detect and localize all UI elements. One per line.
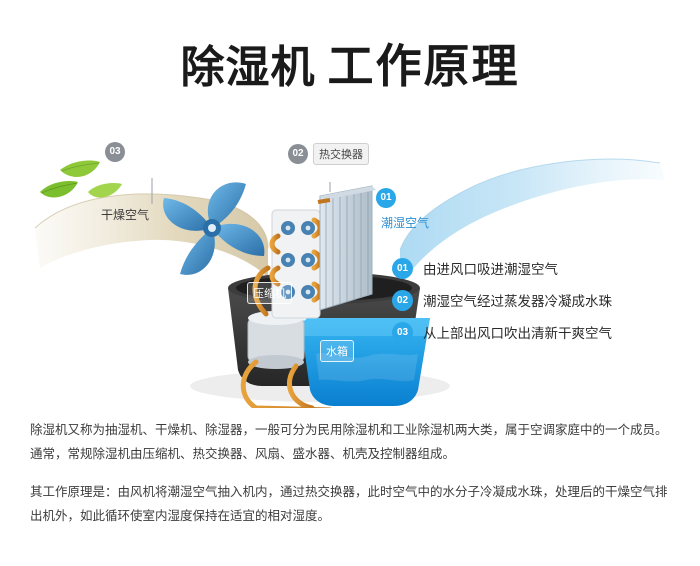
badge-01-diagram: 01 [376,188,396,208]
leaf-icon [40,160,122,197]
heat-exchanger-fins [320,186,376,310]
legend-item-03: 03 从上部出风口吹出清新干爽空气 [392,316,692,348]
badge-02-diagram: 02 [288,144,308,164]
label-water-tank: 水箱 [320,340,354,362]
legend-number-01: 01 [392,258,413,279]
principle-legend-list: 01 由进风口吸进潮湿空气 02 潮湿空气经过蒸发器冷凝成水珠 03 从上部出风… [392,252,692,348]
description-paragraph-1: 除湿机又称为抽湿机、干燥机、除湿器，一般可分为民用除湿机和工业除湿机两大类，属于… [30,418,670,466]
description-paragraph-2: 其工作原理是：由风机将潮湿空气抽入机内，通过热交换器，此时空气中的水分子冷凝成水… [30,480,670,528]
label-dry-air: 干燥空气 [101,206,149,223]
page-title-main: 除湿机 [181,43,316,92]
page-title-sub: 工作原理 [328,40,520,92]
badge-03-diagram: 03 [105,142,125,162]
label-heat-exchanger: 热交换器 [313,143,369,165]
legend-number-02: 02 [392,290,413,311]
legend-item-01: 01 由进风口吸进潮湿空气 [392,252,692,284]
legend-text-03: 从上部出风口吹出清新干爽空气 [423,322,612,342]
legend-number-03: 03 [392,322,413,343]
legend-text-01: 由进风口吸进潮湿空气 [423,258,558,278]
description-text: 除湿机又称为抽湿机、干燥机、除湿器，一般可分为民用除湿机和工业除湿机两大类，属于… [30,418,670,528]
legend-text-02: 潮湿空气经过蒸发器冷凝成水珠 [423,290,612,310]
label-compressor: 压缩机 [247,282,292,304]
legend-item-02: 02 潮湿空气经过蒸发器冷凝成水珠 [392,284,692,316]
page-title: 除湿机工作原理 [0,30,700,96]
label-humid-air: 潮湿空气 [381,214,429,231]
